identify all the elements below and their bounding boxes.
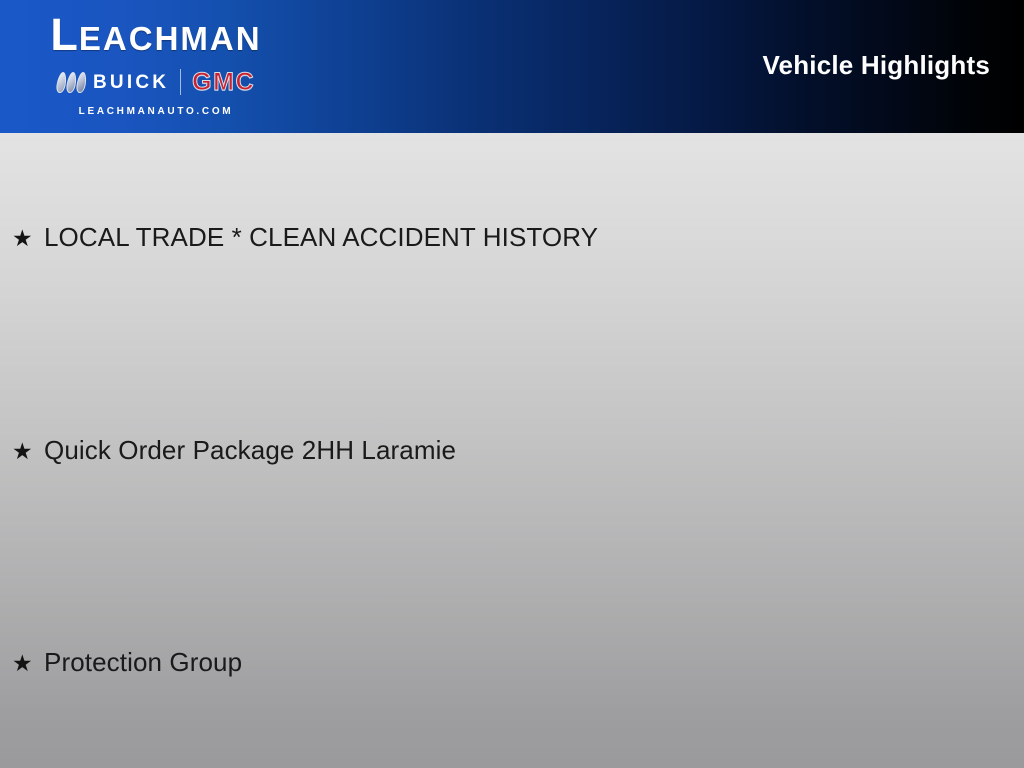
page-header: LEACHMAN BUICK GMC LEACHMANAUTO.COM Vehi… <box>0 0 1024 133</box>
list-item: ★ LOCAL TRADE * CLEAN ACCIDENT HISTORY <box>12 224 598 250</box>
gmc-brand-label: GMC <box>192 70 255 95</box>
dealer-logo[interactable]: LEACHMAN BUICK GMC LEACHMANAUTO.COM <box>22 12 290 124</box>
vertical-divider-icon <box>180 69 181 95</box>
list-item: ★ Quick Order Package 2HH Laramie <box>12 437 456 463</box>
buick-brand-label: BUICK <box>93 73 169 92</box>
dealer-wordmark: LEACHMAN <box>22 12 290 58</box>
highlight-text: Protection Group <box>44 649 242 675</box>
vehicle-highlights-list: ★ LOCAL TRADE * CLEAN ACCIDENT HISTORY ★… <box>0 133 1024 768</box>
dealer-wordmark-initial: L <box>50 9 79 60</box>
dealer-wordmark-rest: EACHMAN <box>79 20 262 57</box>
list-item: ★ Protection Group <box>12 649 242 675</box>
dealer-website-url[interactable]: LEACHMANAUTO.COM <box>22 106 290 117</box>
highlight-text: LOCAL TRADE * CLEAN ACCIDENT HISTORY <box>44 224 598 250</box>
star-icon: ★ <box>12 652 44 675</box>
page-title: Vehicle Highlights <box>762 50 990 81</box>
buick-tri-shield-icon <box>57 72 86 93</box>
brand-row: BUICK GMC <box>22 67 290 97</box>
star-icon: ★ <box>12 227 44 250</box>
star-icon: ★ <box>12 440 44 463</box>
highlight-text: Quick Order Package 2HH Laramie <box>44 437 456 463</box>
